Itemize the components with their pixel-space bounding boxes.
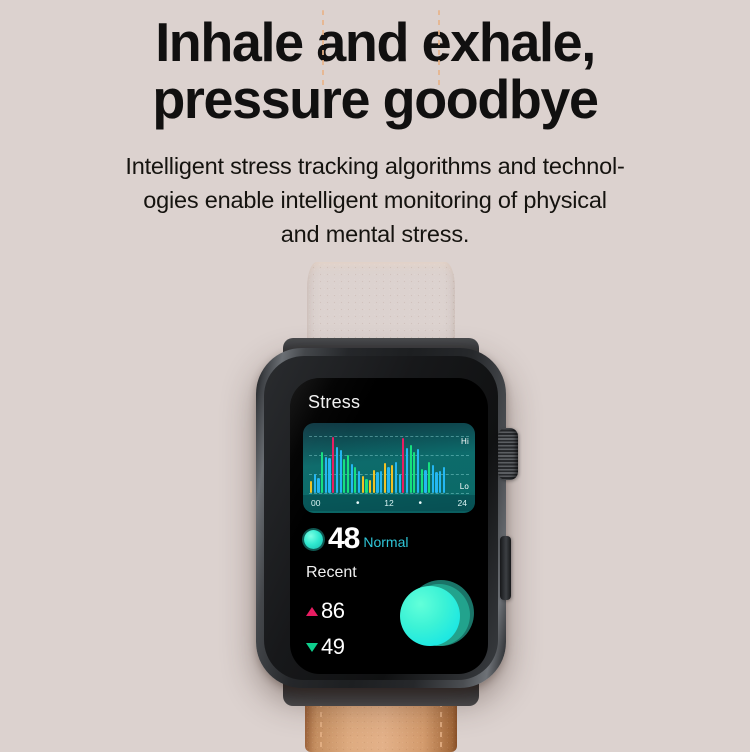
chart-bar [421, 469, 423, 493]
chart-x-tick: 12 [373, 498, 404, 508]
chart-bar [321, 452, 323, 493]
chart-axis-label-low: Lo [460, 482, 469, 491]
chart-bar [373, 470, 375, 493]
stress-status-badge: Normal [363, 534, 408, 550]
chart-bar [376, 472, 378, 493]
stress-score-row[interactable]: 48 Normal [304, 524, 409, 554]
recent-section-label: Recent [306, 564, 357, 582]
chart-bar [413, 452, 415, 493]
chart-bar [406, 448, 408, 493]
chart-x-tick: • [405, 498, 436, 509]
chart-bar [402, 438, 404, 493]
orb-front-circle [400, 586, 460, 646]
chart-x-tick: 24 [436, 498, 467, 508]
chart-bar [328, 458, 330, 493]
chart-bar [340, 450, 342, 493]
chart-bar [325, 457, 327, 493]
watch-display[interactable]: Stress Hi Lo 00•12•24 48 Normal Recent [290, 378, 488, 674]
chart-bar [314, 474, 316, 493]
breathing-orb-graphic [400, 576, 474, 650]
stress-score-value: 48 [328, 524, 359, 554]
chart-bar [424, 470, 426, 493]
chart-bar [365, 479, 367, 493]
recent-reading-value: 49 [321, 636, 344, 658]
chart-bar [343, 459, 345, 493]
chart-bar [395, 462, 397, 493]
strap-stitching-left [322, 10, 324, 88]
stress-chart[interactable]: Hi Lo 00•12•24 [303, 423, 475, 513]
arrow-up-icon [306, 607, 318, 616]
smartwatch-product-image: Stress Hi Lo 00•12•24 48 Normal Recent [0, 0, 750, 750]
watch-bezel: Stress Hi Lo 00•12•24 48 Normal Recent [264, 356, 498, 680]
chart-bar [310, 481, 312, 493]
chart-gridline [309, 493, 469, 494]
chart-bar [428, 462, 430, 493]
chart-bar [362, 476, 364, 493]
recent-reading-item: 49 [306, 636, 344, 658]
chart-bar [432, 465, 434, 493]
chart-bar [387, 467, 389, 493]
recent-reading-item: 86 [306, 600, 344, 622]
chart-bar [317, 478, 319, 493]
chart-bar [351, 464, 353, 493]
chart-bar [439, 471, 441, 493]
chart-bar [410, 445, 412, 493]
side-button[interactable] [500, 536, 511, 600]
rotating-crown-icon[interactable] [498, 428, 518, 480]
chart-bar [380, 471, 382, 493]
chart-bar [358, 471, 360, 493]
chart-bar [384, 463, 386, 493]
chart-axis-label-high: Hi [461, 437, 469, 446]
strap-stitching-right [438, 10, 440, 88]
arrow-down-icon [306, 643, 318, 652]
chart-bar [369, 480, 371, 493]
recent-reading-value: 86 [321, 600, 344, 622]
chart-x-tick: 00 [311, 498, 342, 508]
chart-bar [399, 474, 401, 493]
chart-x-tick: • [342, 498, 373, 509]
stress-status-dot-icon [304, 530, 323, 549]
chart-bar [347, 455, 349, 493]
recent-readings-list: 8649 [306, 600, 344, 672]
strap-bottom-stitching-left [320, 702, 322, 750]
chart-bar [435, 472, 437, 493]
chart-bar [443, 467, 445, 493]
watch-case: Stress Hi Lo 00•12•24 48 Normal Recent [256, 348, 506, 688]
chart-bars [310, 435, 445, 493]
chart-bar [417, 449, 419, 493]
screen-title: Stress [308, 392, 360, 413]
chart-x-axis: 00•12•24 [303, 495, 475, 511]
chart-bar [332, 437, 334, 493]
strap-bottom-stitching-right [440, 702, 442, 750]
chart-bar [336, 447, 338, 493]
chart-bar [391, 465, 393, 493]
chart-bar [354, 467, 356, 493]
